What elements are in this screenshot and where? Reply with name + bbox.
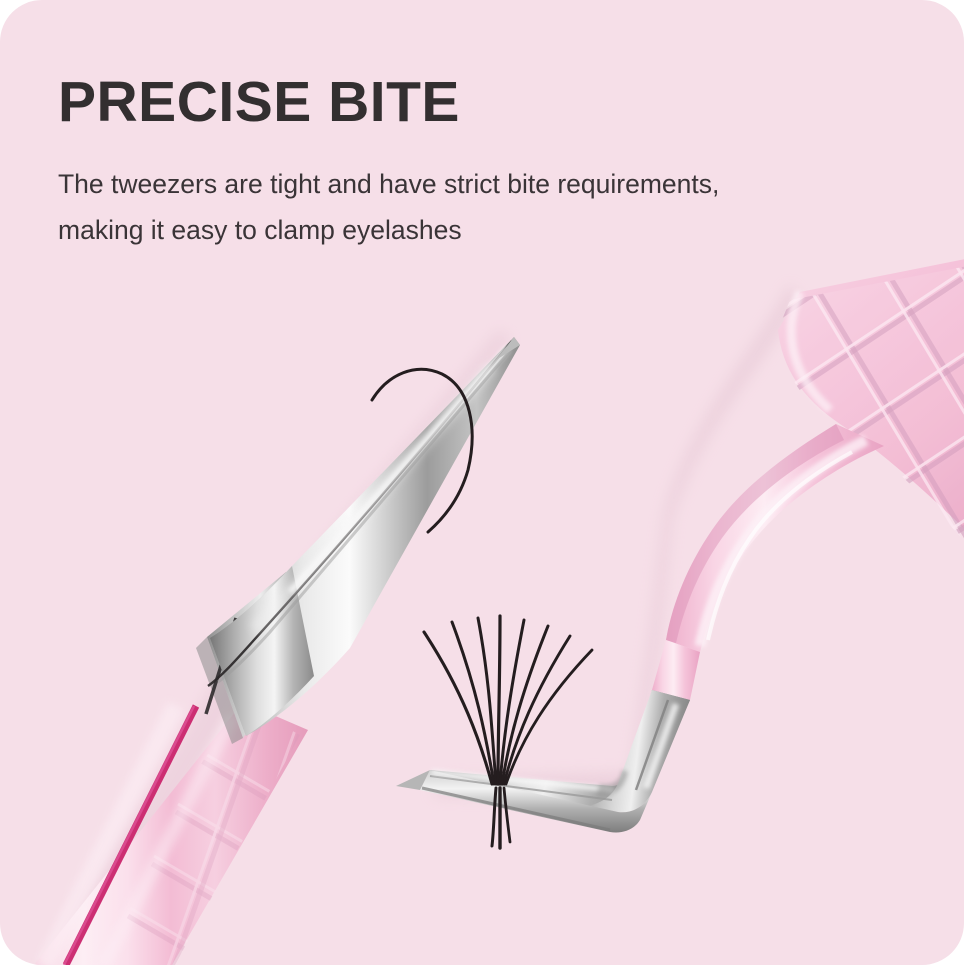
- left-tweezer: [34, 330, 520, 965]
- text-block: PRECISE BITE The tweezers are tight and …: [58, 74, 858, 253]
- left-tweezer-steel-tip: [208, 337, 520, 736]
- subtitle-line-2: making it easy to clamp eyelashes: [58, 215, 462, 245]
- subtitle-line-1: The tweezers are tight and have strict b…: [58, 169, 719, 199]
- rounded-card: PRECISE BITE The tweezers are tight and …: [0, 0, 964, 965]
- page-title: PRECISE BITE: [58, 74, 858, 131]
- product-feature-image: PRECISE BITE The tweezers are tight and …: [0, 0, 964, 965]
- page-subtitle: The tweezers are tight and have strict b…: [58, 161, 798, 253]
